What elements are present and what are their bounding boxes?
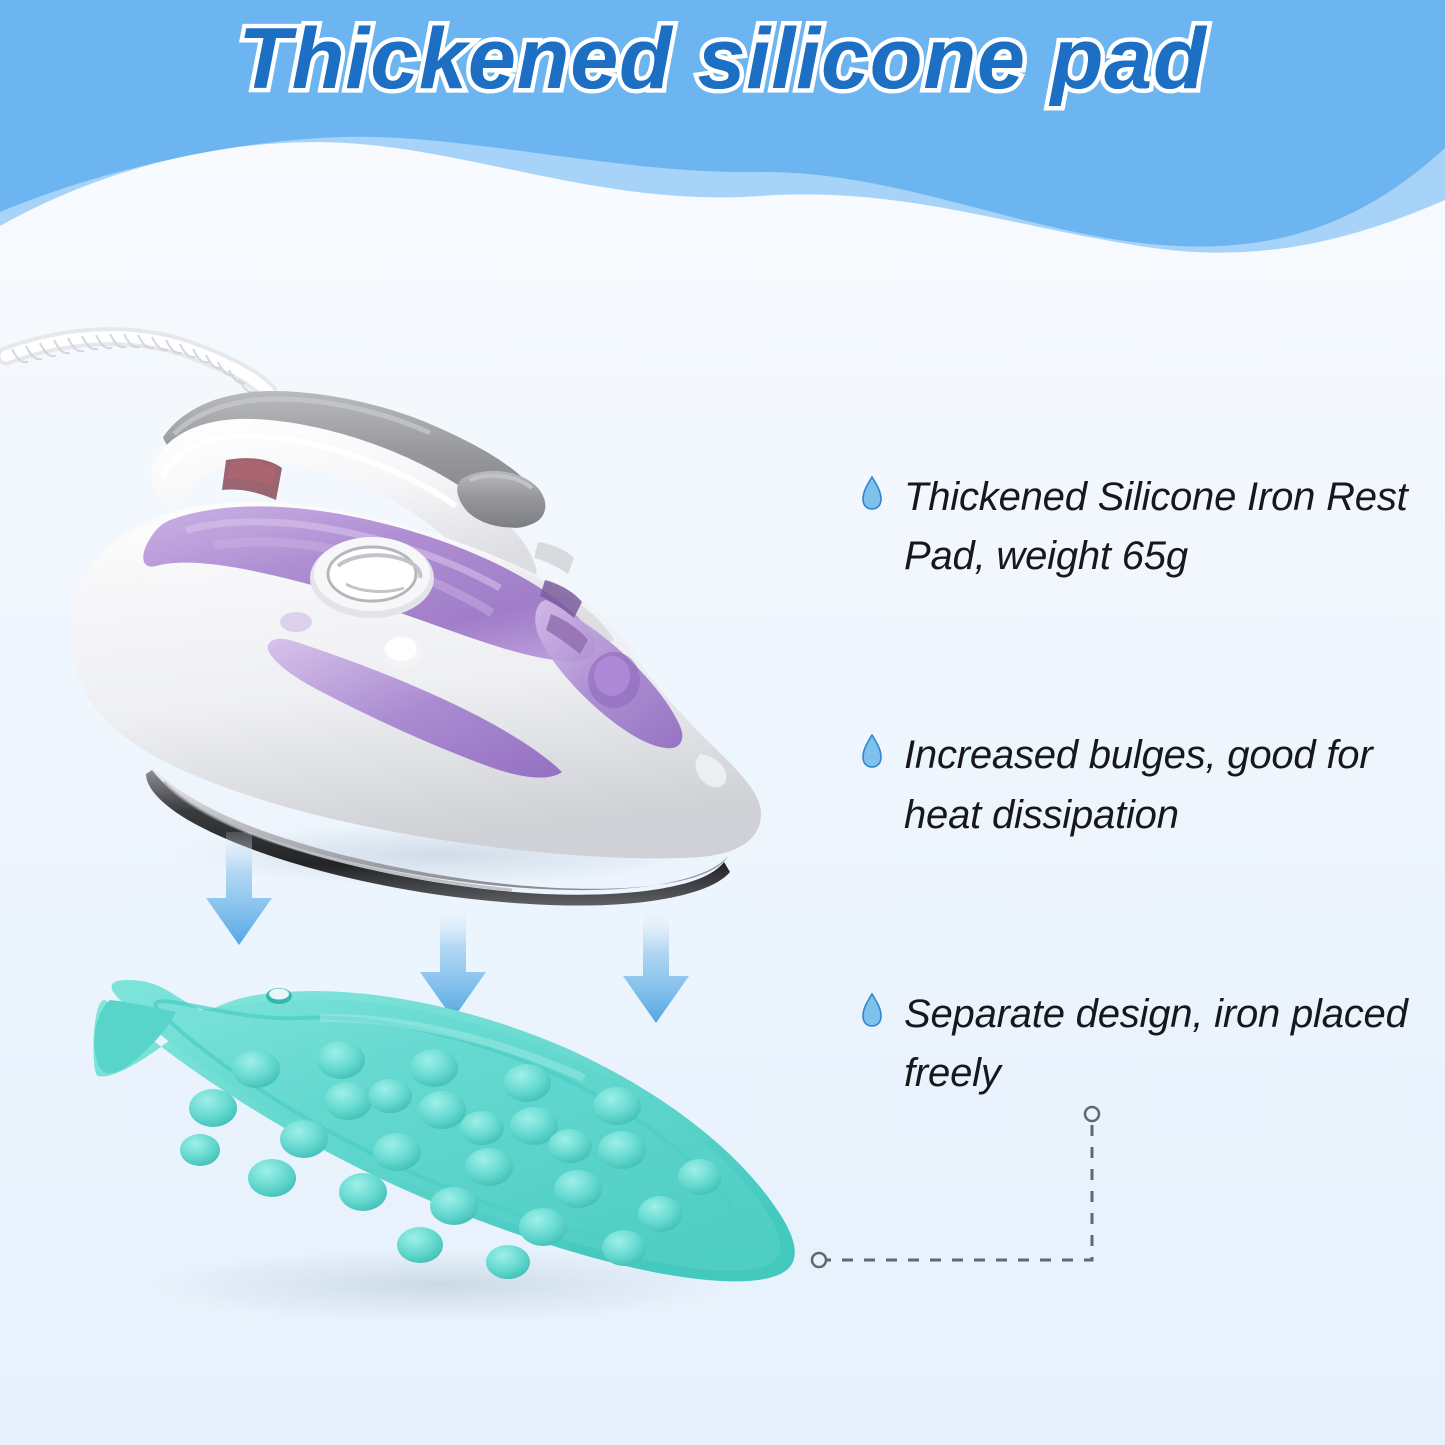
- feature-text-1: Thickened Silicone Iron Rest Pad, weight…: [904, 468, 1422, 586]
- iron-power-cord: [6, 334, 268, 392]
- dimension-callout-line: [790, 1090, 1150, 1290]
- pad-hanging-hole: [266, 988, 292, 1004]
- feature-item-3: Separate design, iron placed freely: [862, 985, 1422, 1103]
- iron-droplet-icon: [862, 993, 882, 1027]
- iron-spray-button: [382, 636, 422, 668]
- callout-endpoint-top: [1085, 1107, 1099, 1121]
- callout-endpoint-left: [812, 1253, 826, 1267]
- downward-arrow-3: [623, 912, 689, 1023]
- downward-arrow-2: [420, 908, 486, 1019]
- steam-iron-image: [6, 334, 761, 906]
- feature-item-1: Thickened Silicone Iron Rest Pad, weight…: [862, 468, 1422, 586]
- product-infographic: Thickened silicone pad Thickened silicon…: [0, 0, 1445, 1445]
- page-title-outline: Thickened silicone pad: [0, 10, 1445, 109]
- silicone-iron-rest-pad-image: [93, 980, 794, 1327]
- feature-item-2: Increased bulges, good for heat dissipat…: [862, 726, 1422, 844]
- feature-list: Thickened Silicone Iron Rest Pad, weight…: [862, 468, 1422, 1103]
- feature-text-3: Separate design, iron placed freely: [904, 985, 1422, 1103]
- iron-droplet-icon: [862, 476, 882, 510]
- feature-text-2: Increased bulges, good for heat dissipat…: [904, 726, 1422, 844]
- callout-path: [820, 1115, 1092, 1260]
- iron-droplet-icon: [862, 734, 882, 768]
